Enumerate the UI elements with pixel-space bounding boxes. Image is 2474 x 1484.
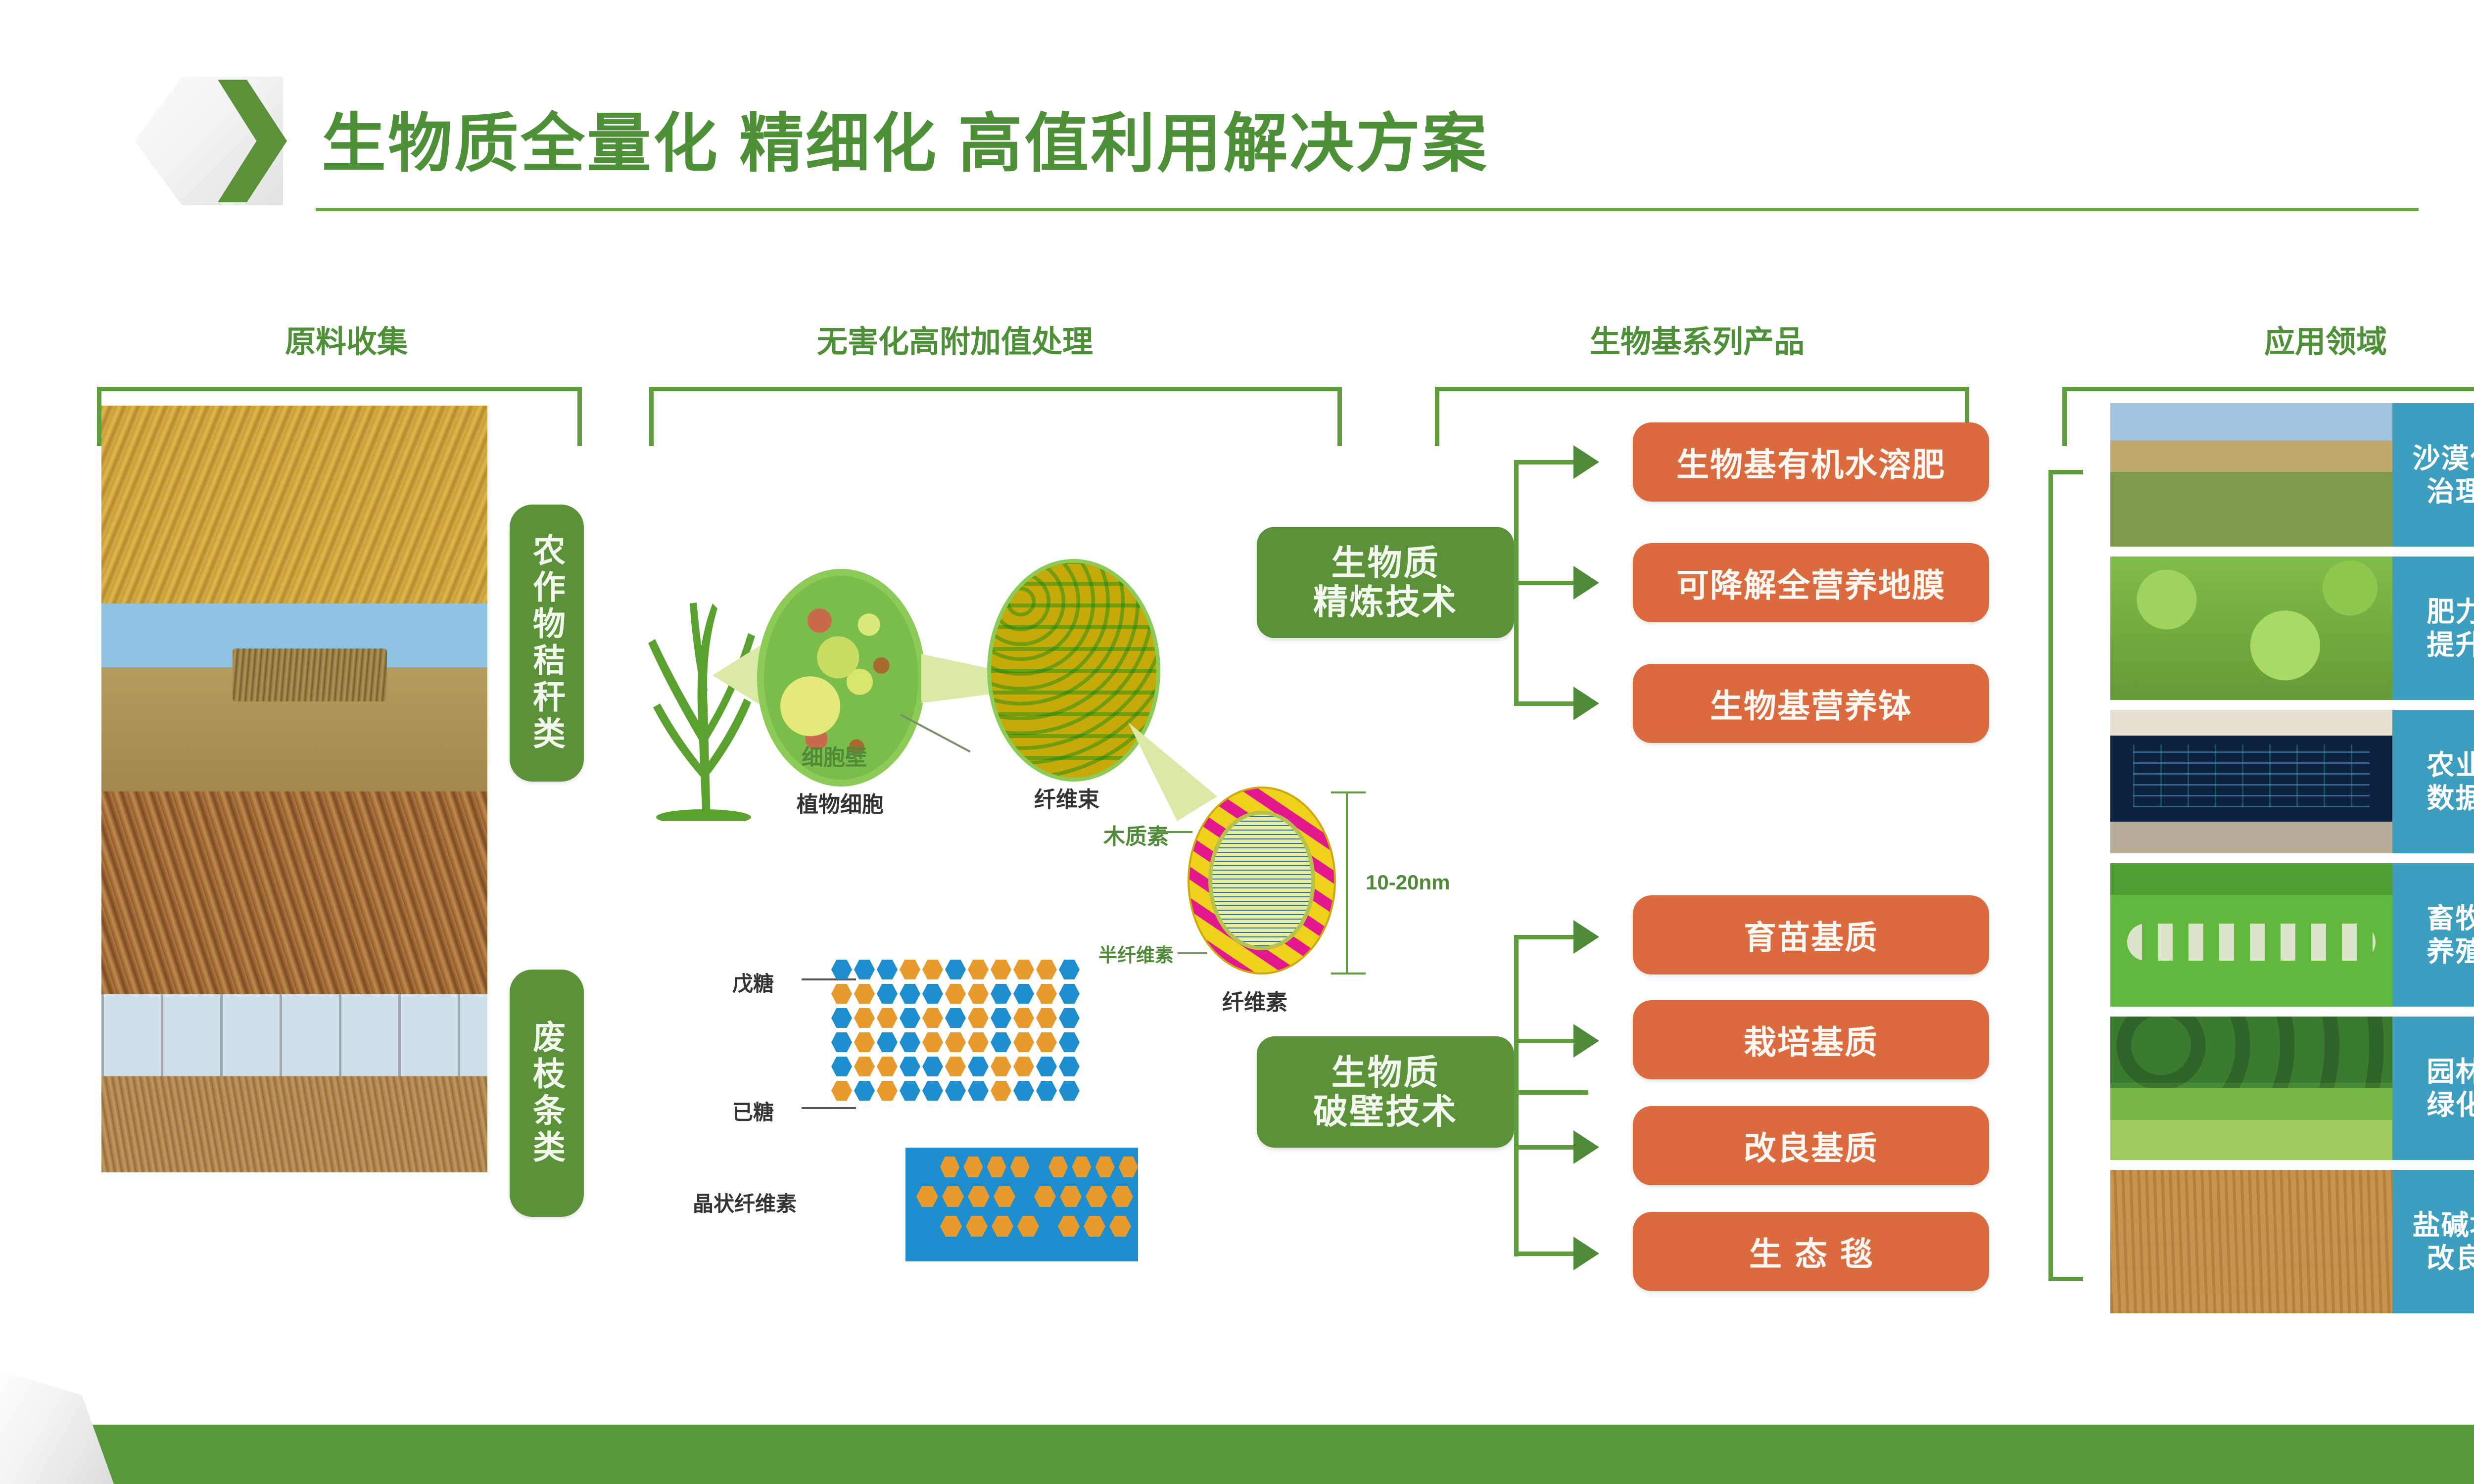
photo-straw-bale-field [101,603,487,791]
application-tag-livestock[interactable]: 畜牧 养殖 [2392,863,2474,1007]
label-pentose: 戊糖 [732,967,774,997]
dimension-tick-top [1331,791,1366,793]
category-pill-waste-branches[interactable]: 废枝条类 [510,970,584,1217]
application-row-data[interactable]: 农业 数据 [2110,710,2474,853]
application-tag-landscaping[interactable]: 园林 绿化 [2392,1017,2474,1160]
section-header-feedstock: 原料收集 [148,317,544,361]
connector-wallbreaking-branch-1 [1514,935,1573,939]
product-pill-cultivation-substrate[interactable]: 栽培基质 [1633,1000,1989,1079]
dimension-line [1346,791,1348,974]
leader-line-hexose [802,1107,856,1109]
arrow-icon-wallbreaking-3 [1573,1130,1599,1164]
arrow-icon-refining-3 [1573,687,1599,720]
photo-agriculture-data-center [2110,710,2392,853]
photo-corn-stover-pile [101,406,487,603]
connector-wallbreaking-spine [1514,935,1519,1256]
product-pill-nutrient-pot[interactable]: 生物基营养钵 [1633,664,1989,743]
label-crystalline-cellulose: 晶状纤维素 [693,1187,797,1217]
crystalline-cellulose-illustration [905,1148,1138,1261]
tech-wallbreaking-line2: 破壁技术 [1313,1092,1458,1131]
application-tag-fertility[interactable]: 肥力 提升 [2392,556,2474,700]
cellulose-cross-section-illustration [1188,787,1336,974]
arrow-icon-wallbreaking-2 [1573,1024,1599,1058]
bracket-applications-connector [2048,470,2083,1281]
label-cell-wall: 细胞壁 [802,740,867,771]
label-fiber-bundle: 纤维束 [1034,782,1099,813]
product-pill-amendment-substrate[interactable]: 改良基质 [1633,1106,1989,1185]
infographic-page: 生物质全量化 精细化 高值利用解决方案 原料收集 无害化高附加值处理 生物基系列… [0,0,2474,1484]
connector-wallbreaking-stem [1514,1090,1588,1095]
application-row-desert[interactable]: 沙漠化 治理 [2110,403,2474,547]
application-fertility-line2: 提升 [2427,628,2474,661]
sugar-chain-illustration [831,960,1138,1105]
application-tag-data[interactable]: 农业 数据 [2392,710,2474,853]
tech-pill-refining[interactable]: 生物质 精炼技术 [1257,527,1514,638]
bracket-processing [649,387,1342,446]
application-tag-desert[interactable]: 沙漠化 治理 [2392,403,2474,547]
arrow-icon-refining-2 [1573,566,1599,600]
dimension-tick-bottom [1331,973,1366,974]
application-row-saline[interactable]: 盐碱地 改良 [2110,1170,2474,1313]
application-livestock-line1: 畜牧 [2427,902,2474,935]
photo-grazing-sheep [2110,863,2392,1007]
application-row-fertility[interactable]: 肥力 提升 [2110,556,2474,700]
page-title: 生物质全量化 精细化 高值利用解决方案 [322,92,1488,185]
leader-line-lignin [1158,831,1192,833]
photo-landscaped-park [2110,1017,2392,1160]
label-lignin: 木质素 [1103,819,1169,850]
section-header-products: 生物基系列产品 [1425,317,1969,361]
connector-refining-branch-2 [1514,581,1573,585]
photo-pruned-branches [101,791,487,994]
application-desert-line2: 治理 [2427,475,2474,508]
application-data-line2: 数据 [2427,782,2474,815]
section-header-applications: 应用领域 [2103,317,2474,361]
application-row-landscaping[interactable]: 园林 绿化 [2110,1017,2474,1160]
application-livestock-line2: 养殖 [2427,935,2474,968]
arrow-icon-refining-1 [1573,445,1599,479]
application-row-livestock[interactable]: 畜牧 养殖 [2110,863,2474,1007]
tech-refining-line2: 精炼技术 [1313,583,1458,621]
application-data-line1: 农业 [2427,748,2474,782]
title-divider [316,208,2419,211]
product-pill-water-soluble-fertilizer[interactable]: 生物基有机水溶肥 [1633,422,1989,502]
application-fertility-line1: 肥力 [2427,595,2474,628]
connector-wallbreaking-branch-2 [1514,1039,1573,1043]
connector-refining-branch-1 [1514,460,1573,464]
application-landscaping-line1: 园林 [2427,1055,2474,1088]
zoom-beam-c-icon [1128,722,1217,821]
product-pill-seedling-substrate[interactable]: 育苗基质 [1633,895,1989,974]
leader-line-hemicellulose [1178,952,1207,954]
tech-wallbreaking-line1: 生物质 [1332,1053,1440,1092]
category-pill-crop-straw[interactable]: 农作物秸秆类 [510,505,584,782]
arrow-icon-wallbreaking-4 [1573,1237,1599,1270]
product-pill-ecological-blanket[interactable]: 生态毯 [1633,1212,1989,1291]
application-tag-saline[interactable]: 盐碱地 改良 [2392,1170,2474,1313]
application-landscaping-line2: 绿化 [2427,1088,2474,1121]
label-cellulose: 纤维素 [1222,984,1287,1016]
footer-bar [0,1425,2474,1484]
hexagon-badge-icon [135,77,283,205]
section-header-processing: 无害化高附加值处理 [559,317,1351,361]
label-scale: 10-20nm [1366,871,1450,894]
tech-refining-line1: 生物质 [1332,544,1440,582]
zoom-beam-b-icon [921,638,996,717]
arrow-icon-wallbreaking-1 [1573,920,1599,954]
tech-pill-wallbreaking[interactable]: 生物质 破壁技术 [1257,1036,1514,1148]
application-desert-line1: 沙漠化 [2413,442,2474,475]
product-pill-biodegradable-mulch-film[interactable]: 可降解全营养地膜 [1633,543,1989,622]
connector-refining-branch-3 [1514,701,1573,706]
fiber-bundle-illustration [987,559,1160,782]
application-saline-line1: 盐碱地 [2413,1208,2474,1242]
label-plant-cell: 植物细胞 [797,787,884,818]
photo-cabbage-field [2110,556,2392,700]
photo-desert-control-site [2110,403,2392,547]
connector-wallbreaking-branch-4 [1514,1252,1573,1256]
connector-wallbreaking-branch-3 [1514,1145,1573,1150]
application-saline-line2: 改良 [2427,1242,2474,1275]
label-hexose: 已糖 [732,1096,774,1126]
feedstock-photo-stack [101,406,487,1172]
photo-saline-alkali-land [2110,1170,2392,1313]
photo-orchard-branch-collection [101,994,487,1172]
